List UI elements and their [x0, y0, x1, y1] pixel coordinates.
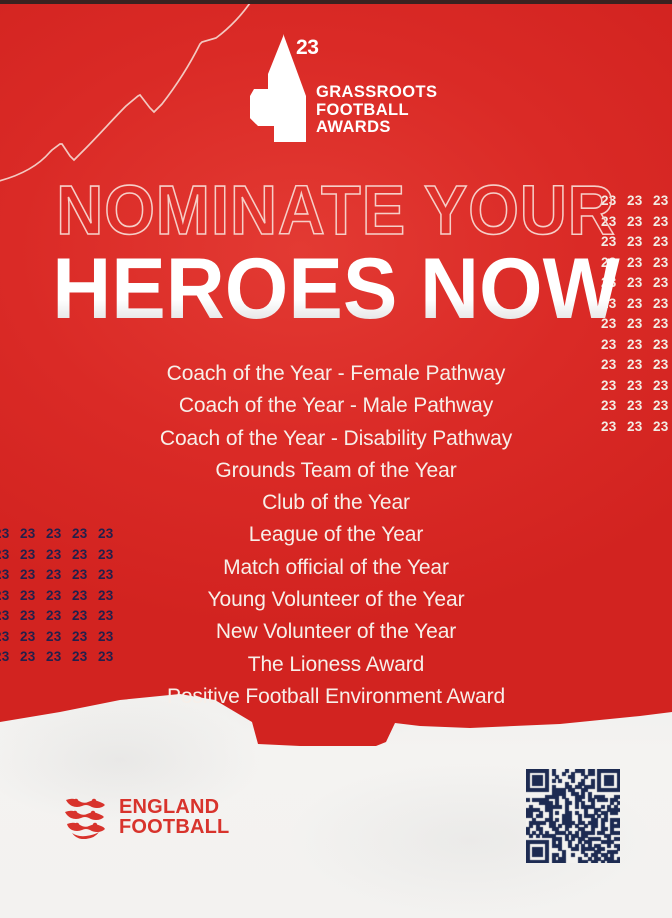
headline: NOMINATE YOUR HEROES NOW	[0, 176, 672, 332]
england-football-wordmark: ENGLAND FOOTBALL	[119, 797, 229, 838]
headline-line-1: NOMINATE YOUR	[24, 176, 649, 244]
logo-wordmark-line2: FOOTBALL	[316, 102, 437, 120]
three-lions-crest-icon	[62, 795, 110, 839]
logo-wordmark-line1: GRASSROOTS	[316, 84, 437, 102]
award-category-item: Young Volunteer of the Year	[0, 584, 672, 616]
award-category-item: League of the Year	[0, 519, 672, 551]
award-category-list: Coach of the Year - Female PathwayCoach …	[0, 358, 672, 713]
england-football-logo: ENGLAND FOOTBALL	[62, 795, 229, 839]
grassroots-football-awards-logo: 23 GRASSROOTS FOOTBALL AWARDS	[248, 28, 428, 150]
award-category-item: Match official of the Year	[0, 552, 672, 584]
award-category-item: Coach of the Year - Male Pathway	[0, 390, 672, 422]
england-football-line1: ENGLAND	[119, 797, 229, 818]
award-category-item: Coach of the Year - Female Pathway	[0, 358, 672, 390]
qr-code-icon[interactable]	[526, 769, 620, 863]
poster-canvas: 2323232323232323232323232323232323232323…	[0, 0, 672, 918]
award-category-item: New Volunteer of the Year	[0, 616, 672, 648]
logo-wordmark: GRASSROOTS FOOTBALL AWARDS	[316, 84, 437, 137]
pattern-token: 23	[627, 335, 653, 356]
award-category-item: Positive Football Environment Award	[0, 681, 672, 713]
headline-line-2: HEROES NOW	[17, 246, 655, 332]
pattern-token: 23	[601, 335, 627, 356]
award-category-item: Coach of the Year - Disability Pathway	[0, 423, 672, 455]
award-category-item: Club of the Year	[0, 487, 672, 519]
top-edge-strip	[0, 0, 672, 4]
logo-wordmark-line3: AWARDS	[316, 119, 437, 137]
england-football-line2: FOOTBALL	[119, 817, 229, 838]
award-category-item: Grounds Team of the Year	[0, 455, 672, 487]
award-category-item: The Lioness Award	[0, 649, 672, 681]
pattern-token: 23	[653, 335, 672, 356]
logo-year-badge: 23	[296, 36, 319, 60]
